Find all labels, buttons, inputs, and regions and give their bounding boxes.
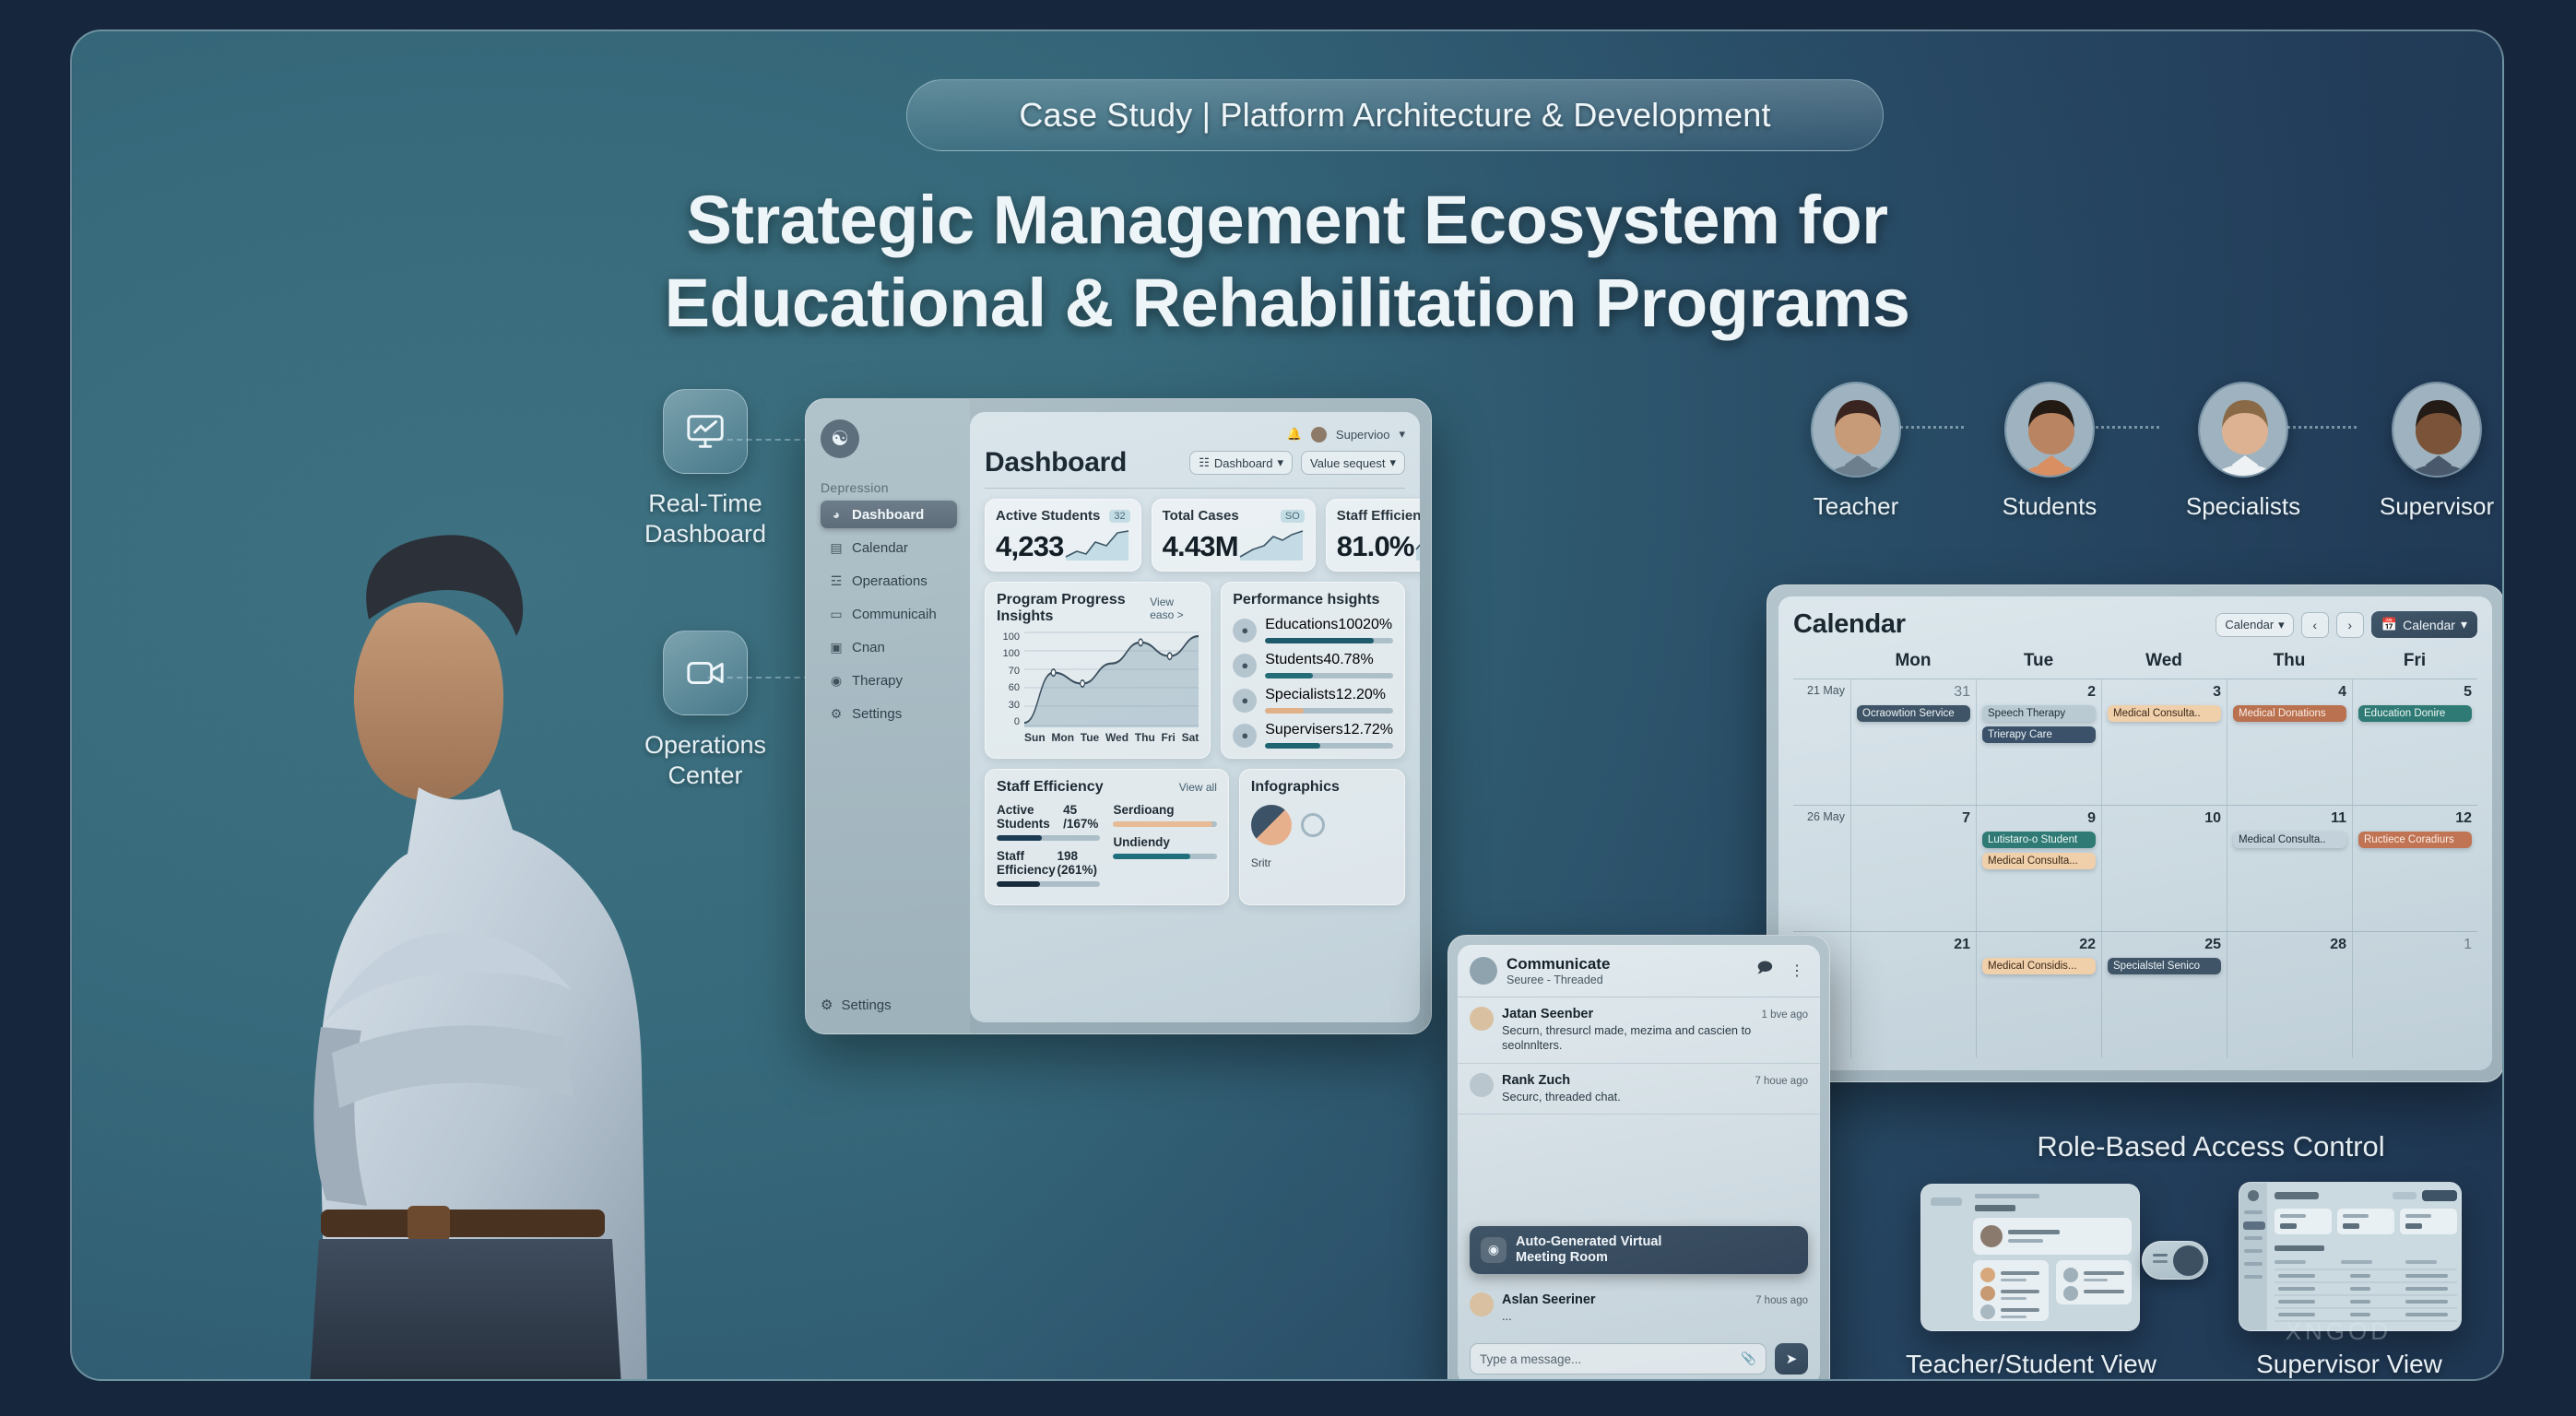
- day-number: 9: [1982, 810, 2096, 827]
- dashboard-sidebar: ☯ Depression ◕Dashboard▤Calendar☲Operaat…: [806, 399, 970, 1033]
- kpi-value: 81.0%: [1337, 532, 1414, 560]
- avatar: ●: [1233, 654, 1257, 678]
- progress-bar: [997, 881, 1100, 887]
- perf-label: Supervisers: [1265, 722, 1342, 737]
- watermark: XNGOD: [2286, 1317, 2392, 1346]
- calendar-day-cell[interactable]: 25Specialstel Senico: [2101, 932, 2227, 1057]
- kpi-value: 4.43M: [1163, 532, 1238, 560]
- sidebar-item-label: Communicaih: [852, 607, 937, 622]
- performance-row: ●Supervisers12.72%: [1233, 722, 1393, 749]
- communicate-chat-card: Communicate Seuree - Threaded 🗩 ⋮ Jatan …: [1448, 935, 1830, 1381]
- line-chart: 1001007060300: [997, 631, 1199, 727]
- avatar: ●: [1233, 689, 1257, 713]
- day-number: 2: [1982, 684, 2096, 701]
- chevron-down-icon: ▾: [1278, 455, 1284, 470]
- day-number: 28: [2233, 937, 2346, 953]
- calendar-event[interactable]: Ocraowtion Service: [1857, 705, 1970, 722]
- calendar-dow: Tue: [1976, 651, 2101, 678]
- feature-operations-center[interactable]: OperationsCenter: [599, 631, 811, 791]
- perf-value: 10020%: [1338, 617, 1392, 632]
- avatar: [1470, 957, 1497, 985]
- day-number: 4: [2233, 684, 2346, 701]
- teacher-student-view-mockup[interactable]: [1920, 1184, 2140, 1331]
- kpi-name: Total Cases: [1163, 508, 1239, 524]
- insight-panels: Program Progress Insights View easo > 10…: [985, 582, 1405, 759]
- avatar: ●: [1233, 619, 1257, 643]
- chat-composer: Type a message... 📎 ➤: [1458, 1334, 1820, 1381]
- role-label: Specialists: [2174, 492, 2312, 521]
- day-number: 10: [2108, 810, 2221, 827]
- avatar: [2392, 382, 2482, 478]
- dashboard-main: 🔔 Supervioo ▾ Dashboard ☷ Dashboard▾ Val…: [970, 412, 1420, 1022]
- perf-value: 40.78%: [1323, 652, 1373, 667]
- message-text: Securc, threaded chat.: [1502, 1090, 1808, 1105]
- chart-marker: [1139, 639, 1143, 645]
- more-vertical-icon[interactable]: ⋮: [1786, 962, 1808, 980]
- kpi-tag: 32: [1109, 510, 1129, 523]
- calendar-weeks: 21 May31Ocraowtion Service2Speech Therap…: [1793, 678, 2477, 1057]
- calendar-day-headers: MonTueWedThuFri: [1793, 651, 2477, 678]
- poster-canvas: Case Study | Platform Architecture & Dev…: [70, 29, 2504, 1381]
- avatar[interactable]: [1311, 427, 1327, 442]
- staff-efficiency-panel: Staff Efficiency View all Active Student…: [985, 769, 1229, 905]
- role-switch-toggle[interactable]: [2142, 1241, 2208, 1280]
- day-number: 25: [2108, 937, 2221, 953]
- toggle-lines-icon: [2153, 1254, 2168, 1257]
- avatar: [2004, 382, 2095, 478]
- chat-message: Rank Zuch7 houe agoSecurc, threaded chat…: [1458, 1064, 1820, 1115]
- feature-label: OperationsCenter: [599, 730, 811, 791]
- calendar-dow: Fri: [2352, 651, 2477, 678]
- sidebar-brand: Depression: [821, 480, 957, 495]
- card-icon: ▣: [829, 640, 844, 655]
- prev-button[interactable]: ‹: [2301, 612, 2329, 638]
- role-specialists[interactable]: Specialists: [2174, 382, 2312, 521]
- chart-marker: [1081, 680, 1085, 687]
- chevron-down-icon: ▾: [2461, 617, 2467, 632]
- calendar-event[interactable]: Ructiece Coradiurs: [2358, 832, 2472, 848]
- message-author: Rank Zuch: [1502, 1073, 1570, 1088]
- chat-title: Communicate: [1507, 955, 1610, 973]
- day-number: 11: [2233, 810, 2346, 827]
- message-input-placeholder: Type a message...: [1480, 1352, 1581, 1366]
- progress-bar: [1265, 708, 1393, 714]
- chevron-down-icon[interactable]: ▾: [1399, 427, 1405, 442]
- calendar-icon: ▤: [829, 540, 844, 556]
- staff-metric-row: Serdioang: [1113, 803, 1216, 827]
- kpi-name: Staff Efficiency: [1337, 508, 1420, 524]
- panel-title: Performance hsights: [1233, 592, 1379, 608]
- feature-label: Real-TimeDashboard: [599, 489, 811, 549]
- sidebar-item-cnan[interactable]: ▣Cnan: [821, 633, 957, 661]
- dashboard-topbar: 🔔 Supervioo ▾: [985, 425, 1405, 443]
- vroom-line-2: Meeting Room: [1516, 1250, 1661, 1266]
- donut-chart-icon: [1251, 805, 1292, 845]
- role-label: Students: [1980, 492, 2119, 521]
- avatar: ●: [1233, 724, 1257, 748]
- dashboard-page-title: Dashboard: [985, 447, 1127, 478]
- video-camera-icon: [663, 631, 748, 715]
- y-tick-label: 100: [997, 648, 1020, 659]
- calendar-event[interactable]: Specialstel Senico: [2108, 958, 2221, 974]
- message-text: Securn, thresurcl made, mezima and casci…: [1502, 1023, 1808, 1054]
- kpi-tag: SO: [1281, 510, 1305, 523]
- kpi-card-list: Active Students324,233Total CasesSO4.43M…: [985, 499, 1405, 572]
- sidebar-item-label: Dashboard: [852, 507, 924, 523]
- calendar-view-button[interactable]: 📅 Calendar▾: [2371, 611, 2477, 638]
- day-number: 5: [2358, 684, 2472, 701]
- kpi-card: Total CasesSO4.43M: [1152, 499, 1316, 572]
- ring-chart-icon: [1301, 813, 1325, 837]
- calendar-event[interactable]: Speech Therapy: [1982, 705, 2096, 722]
- app-logo-icon[interactable]: ☯: [821, 419, 859, 458]
- virtual-meeting-room-card[interactable]: ◉ Auto-Generated Virtual Meeting Room: [1470, 1226, 1808, 1275]
- calendar-week-row: 21 May31Ocraowtion Service2Speech Therap…: [1793, 678, 2477, 805]
- y-tick-label: 100: [997, 631, 1020, 643]
- calendar-icon: 📅: [2381, 617, 2397, 632]
- calendar-header: Calendar Calendar▾ ‹ › 📅 Calendar▾: [1793, 609, 2477, 640]
- calendar-event[interactable]: Medical Consulta...: [1982, 853, 2096, 869]
- staff-value: 45 /167%: [1063, 803, 1100, 831]
- calendar-day-cell[interactable]: 31Ocraowtion Service: [1850, 679, 1976, 805]
- day-number: 7: [1857, 810, 1970, 827]
- sidebar-item-label: Settings: [852, 706, 902, 722]
- staff-metric-row: Undiendy: [1113, 835, 1216, 859]
- day-number: 21: [1857, 937, 1970, 953]
- view-all-link[interactable]: View all: [1179, 781, 1217, 794]
- sidebar-item-communicaih[interactable]: ▭Communicaih: [821, 600, 957, 628]
- notification-bell-icon[interactable]: 🔔: [1287, 427, 1302, 442]
- x-tick-label: Thu: [1135, 731, 1155, 744]
- calendar-day-cell[interactable]: 1: [2352, 932, 2477, 1057]
- staff-label: Staff Efficiency: [997, 849, 1058, 877]
- teacher-student-view-label: Teacher/Student View: [1884, 1350, 2179, 1379]
- message-time: 7 houe ago: [1755, 1076, 1808, 1087]
- next-button[interactable]: ›: [2336, 612, 2364, 638]
- progress-bar: [1113, 854, 1216, 859]
- calendar-event[interactable]: Medical Consulta..: [2233, 832, 2346, 848]
- perf-value: 12.20%: [1336, 687, 1386, 702]
- x-tick-label: Mon: [1051, 731, 1074, 744]
- kpi-value: 4,233: [996, 532, 1064, 560]
- calendar-dow: Thu: [2227, 651, 2352, 678]
- program-progress-panel: Program Progress Insights View easo > 10…: [985, 582, 1211, 759]
- day-number: 3: [2108, 684, 2221, 701]
- staff-label: Undiendy: [1113, 835, 1170, 849]
- eye-icon: ◉: [829, 673, 844, 689]
- x-tick-label: Wed: [1105, 731, 1128, 744]
- sparkline: [1238, 529, 1305, 560]
- message-time: 1 bve ago: [1761, 1009, 1808, 1021]
- day-number: 12: [2358, 810, 2472, 827]
- sidebar-item-calendar[interactable]: ▤Calendar: [821, 534, 957, 561]
- role-students[interactable]: Students: [1980, 382, 2119, 521]
- calendar-event[interactable]: Education Donire: [2358, 705, 2472, 722]
- sidebar-item-label: Cnan: [852, 640, 885, 655]
- chat-message: Jatan Seenber1 bve agoSecurn, thresurcl …: [1458, 997, 1820, 1064]
- sparkline: [1414, 529, 1420, 560]
- dashboard-mockup: ☯ Depression ◕Dashboard▤Calendar☲Operaat…: [805, 398, 1432, 1034]
- day-number: 1: [2358, 937, 2472, 953]
- sidebar-item-dashboard[interactable]: ◕Dashboard: [821, 501, 957, 528]
- chart-marker: [1051, 669, 1056, 676]
- calendar-week-label: 21 May: [1793, 679, 1850, 805]
- vroom-line-1: Auto-Generated Virtual: [1516, 1234, 1661, 1250]
- pie-chart-icon: ◕: [829, 507, 844, 522]
- calendar-event[interactable]: Trierapy Care: [1982, 726, 2096, 743]
- calendar-event[interactable]: Medical Consulta..: [2108, 705, 2221, 722]
- staff-right-column: SerdioangUndiendy: [1113, 803, 1216, 895]
- performance-insights-panel: Performance hsights ●Educations10020%●St…: [1221, 582, 1405, 759]
- title-line-1: Strategic Management Ecosystem for: [72, 184, 2502, 256]
- calendar-day-cell[interactable]: 4Medical Donations: [2227, 679, 2352, 805]
- x-tick-label: Fri: [1162, 731, 1176, 744]
- calendar-mockup: Calendar Calendar▾ ‹ › 📅 Calendar▾ MonTu…: [1767, 584, 2504, 1082]
- message-author: Jatan Seenber: [1502, 1007, 1593, 1021]
- role-label: Teacher: [1787, 492, 1925, 521]
- progress-bar: [1265, 673, 1393, 678]
- monitor-chart-icon: [663, 389, 748, 474]
- gear-icon: ⚙: [821, 997, 833, 1013]
- calendar-day-cell[interactable]: 22Medical Considis...: [1976, 932, 2101, 1057]
- message-input[interactable]: Type a message... 📎: [1470, 1343, 1767, 1375]
- calendar-week-label: 26 May: [1793, 806, 1850, 931]
- chat-message-list: Jatan Seenber1 bve agoSecurn, thresurcl …: [1458, 997, 1820, 1217]
- staff-label: Serdioang: [1113, 803, 1174, 817]
- x-tick-label: Sun: [1024, 731, 1046, 744]
- panel-title: Infographics: [1251, 779, 1340, 796]
- chat-header: Communicate Seuree - Threaded 🗩 ⋮: [1458, 945, 1820, 997]
- avatar: [1811, 382, 1901, 478]
- chevron-down-icon: ▾: [1389, 455, 1396, 470]
- sparkline: [1064, 529, 1130, 560]
- sidebar-item-label: Operaations: [852, 573, 928, 589]
- staff-left-column: Active Students45 /167%Staff Efficiency1…: [997, 803, 1100, 895]
- dashboard-title-row: Dashboard ☷ Dashboard▾ Value sequest▾: [985, 447, 1405, 478]
- lower-panels: Staff Efficiency View all Active Student…: [985, 769, 1405, 905]
- calendar-day-cell[interactable]: 21: [1850, 932, 1976, 1057]
- chat-bubble-icon[interactable]: 🗩: [1753, 958, 1777, 983]
- paperclip-icon[interactable]: 📎: [1741, 1351, 1756, 1366]
- kpi-card: Staff Efficiency281.0%: [1326, 499, 1420, 572]
- calendar-event[interactable]: Medical Donations: [2233, 705, 2346, 722]
- calendar-event[interactable]: Lutistaro-o Student: [1982, 832, 2096, 848]
- y-tick-label: 0: [997, 716, 1020, 727]
- supervisor-view-label: Supervisor View: [2211, 1350, 2487, 1379]
- staff-value: 198 (261%): [1058, 849, 1101, 877]
- sidebar-item-therapy[interactable]: ◉Therapy: [821, 667, 957, 694]
- calendar-title: Calendar: [1793, 609, 1906, 640]
- calendar-day-cell[interactable]: 9Lutistaro-o StudentMedical Consulta...: [1976, 806, 2101, 931]
- performance-row: ●Students40.78%: [1233, 652, 1393, 678]
- avatar: [1470, 1292, 1494, 1316]
- staff-metric-row: Staff Efficiency198 (261%): [997, 849, 1100, 887]
- chart-y-axis: 1001007060300: [997, 631, 1024, 727]
- progress-bar: [1113, 821, 1216, 827]
- kpi-name: Active Students: [996, 508, 1100, 524]
- calendar-day-cell[interactable]: 2Speech TherapyTrierapy Care: [1976, 679, 2101, 805]
- calendar-day-cell[interactable]: 7: [1850, 806, 1976, 931]
- day-number: 22: [1982, 937, 2096, 953]
- calendar-select[interactable]: Calendar▾: [2216, 613, 2293, 637]
- gear-icon: ⚙: [829, 706, 844, 722]
- avatar: [1470, 1007, 1494, 1031]
- sidebar-item-settings[interactable]: ⚙Settings: [821, 700, 957, 727]
- sidebar-item-settings-footer[interactable]: ⚙ Settings: [821, 997, 892, 1013]
- perf-label: Specialists: [1265, 687, 1335, 702]
- role-supervisor[interactable]: Supervisor: [2368, 382, 2504, 521]
- staff-metric-row: Active Students45 /167%: [997, 803, 1100, 841]
- y-tick-label: 70: [997, 666, 1020, 677]
- toggle-knob: [2173, 1245, 2204, 1276]
- message-time: 7 hous ago: [1755, 1295, 1808, 1306]
- message-author: Aslan Seeriner: [1502, 1292, 1596, 1307]
- progress-bar: [997, 835, 1100, 841]
- divider: [985, 488, 1405, 489]
- infographics-panel: Infographics Sritr: [1239, 769, 1405, 905]
- calendar-day-cell[interactable]: 5Education Donire: [2352, 679, 2477, 805]
- calendar-day-cell[interactable]: 10: [2101, 806, 2227, 931]
- role-teacher[interactable]: Teacher: [1787, 382, 1925, 521]
- view-more-link[interactable]: View easo >: [1150, 596, 1199, 621]
- dashboard-select-button[interactable]: ☷ Dashboard▾: [1189, 451, 1293, 475]
- panel-title: Program Progress Insights: [997, 592, 1150, 625]
- progress-bar: [1265, 743, 1393, 749]
- y-tick-label: 30: [997, 700, 1020, 711]
- chart-plot-area: [1024, 631, 1199, 727]
- avatar: [2198, 382, 2288, 478]
- staff-label: Active Students: [997, 803, 1063, 831]
- calendar-week-row: 26 May79Lutistaro-o StudentMedical Consu…: [1793, 805, 2477, 931]
- calendar-day-cell[interactable]: 11Medical Consulta..: [2227, 806, 2352, 931]
- chart-marker: [1167, 653, 1172, 659]
- sidebar-item-label: Calendar: [852, 540, 908, 556]
- case-study-badge: Case Study | Platform Architecture & Dev…: [906, 79, 1884, 151]
- sidebar-item-operaations[interactable]: ☲Operaations: [821, 567, 957, 595]
- kpi-card: Active Students324,233: [985, 499, 1141, 572]
- chat-bubble-icon: ▭: [829, 607, 844, 622]
- perf-label: Students: [1265, 652, 1323, 667]
- calendar-day-cell[interactable]: 12Ructiece Coradiurs: [2352, 806, 2477, 931]
- calendar-event[interactable]: Medical Considis...: [1982, 958, 2096, 974]
- sidebar-item-label: Therapy: [852, 673, 903, 689]
- chart-x-axis: SunMonTueWedThuFriSat: [1024, 731, 1199, 744]
- performance-row: ●Specialists12.20%: [1233, 687, 1393, 714]
- day-number: 31: [1857, 684, 1970, 701]
- calendar-dow: Mon: [1850, 651, 1976, 678]
- panel-icon: ☷: [1199, 455, 1210, 470]
- chat-last-message: Aslan Seeriner 7 hous ago ...: [1458, 1283, 1820, 1334]
- performance-row: ●Educations10020%: [1233, 617, 1393, 643]
- perf-label: Educations: [1265, 617, 1338, 632]
- sidebar-footer-label: Settings: [841, 997, 891, 1013]
- value-sequest-button[interactable]: Value sequest▾: [1301, 451, 1405, 475]
- progress-bar: [1265, 638, 1393, 643]
- badge-label: Case Study | Platform Architecture & Dev…: [1019, 96, 1770, 135]
- x-tick-label: Tue: [1081, 731, 1099, 744]
- rbac-title: Role-Based Access Control: [1897, 1130, 2504, 1163]
- avatar: [1470, 1073, 1494, 1097]
- users-icon: ☲: [829, 573, 844, 589]
- send-button[interactable]: ➤: [1775, 1343, 1808, 1375]
- supervisor-view-mockup[interactable]: [2239, 1182, 2462, 1331]
- video-icon: ◉: [1481, 1237, 1507, 1263]
- panel-title: Staff Efficiency: [997, 779, 1104, 796]
- title-line-2: Educational & Rehabilitation Programs: [72, 267, 2502, 339]
- message-text: ...: [1502, 1309, 1808, 1325]
- role-label: Supervisor: [2368, 492, 2504, 521]
- page-title: Strategic Management Ecosystem for Educa…: [72, 184, 2502, 340]
- calendar-day-cell[interactable]: 28: [2227, 932, 2352, 1057]
- x-tick-label: Sat: [1182, 731, 1199, 744]
- feature-real-time-dashboard[interactable]: Real-TimeDashboard: [599, 389, 811, 549]
- calendar-week-row: 2122Medical Considis...25Specialstel Sen…: [1793, 931, 2477, 1057]
- calendar-dow: Wed: [2101, 651, 2227, 678]
- topbar-user[interactable]: Supervioo: [1336, 428, 1390, 442]
- chat-subtitle: Seuree - Threaded: [1507, 973, 1610, 986]
- calendar-day-cell[interactable]: 3Medical Consulta..: [2101, 679, 2227, 805]
- y-tick-label: 60: [997, 682, 1020, 693]
- perf-value: 12.72%: [1343, 722, 1393, 737]
- role-avatar-row: TeacherStudentsSpecialistsSupervisor: [1787, 382, 2504, 521]
- chevron-down-icon: ▾: [2278, 618, 2285, 632]
- infographics-sub: Sritr: [1251, 856, 1393, 869]
